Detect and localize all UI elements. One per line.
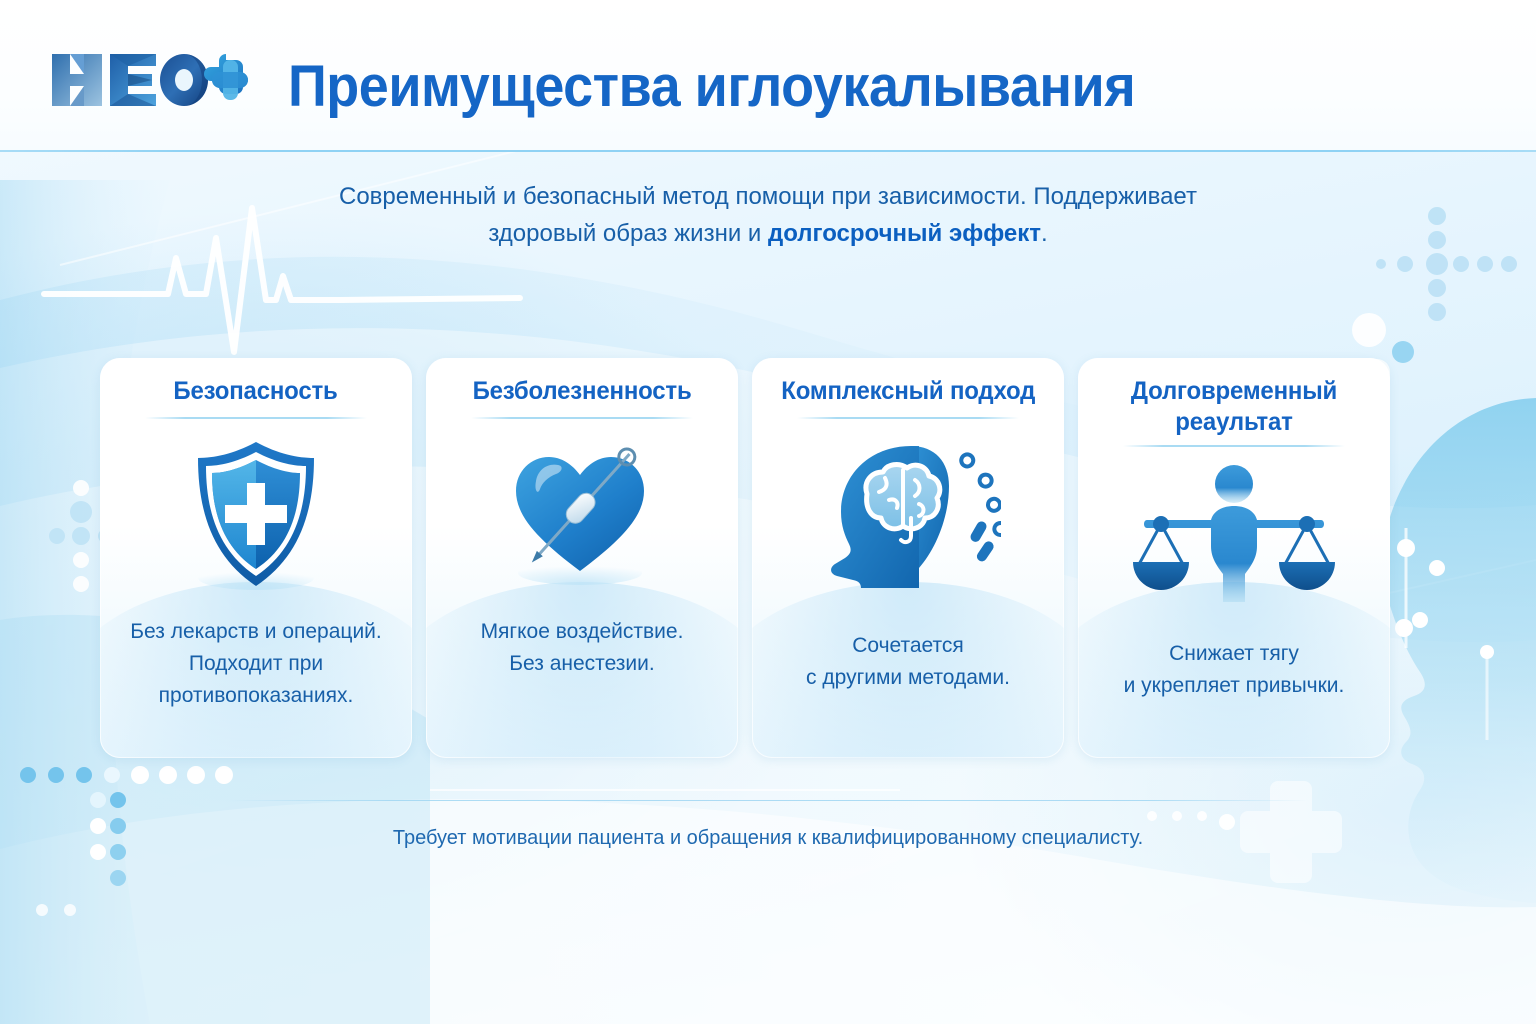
- footer-divider: [228, 800, 1308, 801]
- card-title: Безболезненность: [473, 376, 692, 408]
- infographic-canvas: Преимущества иглоукалывания Современный …: [0, 0, 1536, 1024]
- card-description: Без лекарств и операций. Подходит при пр…: [130, 616, 382, 712]
- card-long-term-result[interactable]: Долговременный реаультат: [1078, 358, 1390, 758]
- person-scales-icon: [1092, 457, 1376, 607]
- subtitle-highlight: долгосрочный эффект: [768, 220, 1041, 247]
- head-brain-needles-icon: [766, 429, 1050, 599]
- card-title: Комплексный подход: [781, 376, 1035, 408]
- neo-plus-logo[interactable]: [48, 46, 248, 112]
- subtitle-line-2-suffix: .: [1041, 220, 1048, 247]
- header: Преимущества иглоукалывания: [0, 0, 1536, 152]
- card-description: Мягкое воздействие. Без анестезии.: [481, 616, 684, 680]
- card-painlessness[interactable]: Безболезненность: [426, 358, 738, 758]
- heart-needle-icon: [440, 429, 724, 599]
- footer-note: Требует мотивации пациента и обращения к…: [218, 824, 1318, 852]
- dot-grid-pattern: [20, 766, 233, 916]
- card-title: Долговременный реаультат: [1098, 376, 1371, 438]
- card-divider: [145, 417, 367, 419]
- benefit-cards: Безопасность: [100, 358, 1390, 758]
- subtitle-line-1: Современный и безопасный метод помощи пр…: [339, 183, 1197, 210]
- dot-cross-pattern: [1376, 207, 1517, 321]
- subtitle: Современный и безопасный метод помощи пр…: [308, 178, 1228, 252]
- card-divider: [1123, 445, 1345, 447]
- card-divider: [471, 417, 693, 419]
- card-complex-approach[interactable]: Комплексный подход: [752, 358, 1064, 758]
- card-description: Сочетается с другими методами.: [806, 630, 1010, 694]
- page-title: Преимущества иглоукалывания: [288, 56, 1135, 118]
- face-profile-silhouette: [1383, 398, 1536, 903]
- subtitle-line-2-prefix: здоровый образ жизни и: [488, 220, 768, 247]
- card-title: Безопасность: [174, 376, 338, 408]
- card-divider: [797, 417, 1019, 419]
- card-description: Снижает тягу и укрепляет привычки.: [1124, 638, 1345, 702]
- shield-cross-icon: [114, 429, 398, 599]
- card-safety[interactable]: Безопасность: [100, 358, 412, 758]
